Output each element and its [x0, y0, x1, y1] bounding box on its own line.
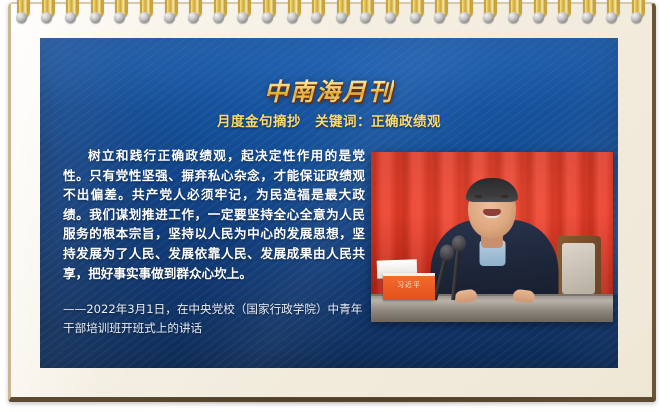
spiral-ring [557, 0, 569, 20]
spiral-ring [287, 0, 299, 20]
spiral-ring-knob [459, 12, 470, 23]
spiral-ring-knob [164, 12, 175, 23]
spiral-ring [311, 0, 323, 20]
subtitle: 月度金句摘抄 关键词：正确政绩观 [40, 110, 618, 130]
spiral-ring [606, 0, 618, 20]
spiral-ring-knob [508, 12, 519, 23]
nameplate-label: 习近平 [383, 280, 435, 290]
spiral-ring-knob [237, 12, 248, 23]
spiral-ring [631, 0, 643, 20]
spiral-ring [90, 0, 102, 20]
spiral-binding [10, 0, 658, 36]
spiral-ring-knob [41, 12, 52, 23]
spiral-ring-knob [410, 12, 421, 23]
spiral-ring-knob [213, 12, 224, 23]
spiral-ring-knob [385, 12, 396, 23]
masthead-title: 中南海月刊 [264, 72, 394, 107]
slide-panel: 中南海月刊 月度金句摘抄 关键词：正确政绩观 树立和践行正确政绩观，起决定性作用… [40, 38, 618, 368]
spiral-ring [410, 0, 422, 20]
spiral-ring-knob [557, 12, 568, 23]
spiral-ring [114, 0, 126, 20]
spiral-ring-knob [65, 12, 76, 23]
spiral-ring [360, 0, 372, 20]
spiral-ring [213, 0, 225, 20]
spiral-ring [139, 0, 151, 20]
spiral-ring-knob [16, 12, 27, 23]
spiral-ring-knob [188, 12, 199, 23]
spiral-ring [188, 0, 200, 20]
spiral-ring [385, 0, 397, 20]
spiral-ring [434, 0, 446, 20]
chair-back [557, 236, 601, 298]
spiral-ring [336, 0, 348, 20]
person-eye-right [501, 195, 508, 198]
spiral-ring-knob [483, 12, 494, 23]
spiral-ring [41, 0, 53, 20]
quote-text: 树立和践行正确政绩观，起决定性作用的是党性。只有党性坚强、摒弃私心杂念，才能保证… [63, 146, 365, 283]
spiral-ring [582, 0, 594, 20]
spiral-ring-knob [434, 12, 445, 23]
spiral-ring [65, 0, 77, 20]
spiral-ring-knob [287, 12, 298, 23]
board-drop-shadow [14, 398, 654, 407]
quote-source: ——2022年3月1日，在中央党校（国家行政学院）中青年干部培训班开班式上的讲话 [63, 300, 365, 338]
spiral-ring [16, 0, 28, 20]
spiral-ring-knob [311, 12, 322, 23]
spiral-ring-knob [114, 12, 125, 23]
spiral-ring [533, 0, 545, 20]
spiral-ring [459, 0, 471, 20]
spiral-ring-knob [262, 12, 273, 23]
calendar-page-root: 中南海月刊 月度金句摘抄 关键词：正确政绩观 树立和践行正确政绩观，起决定性作用… [0, 0, 670, 412]
spiral-ring [164, 0, 176, 20]
nameplate: 习近平 [383, 273, 435, 300]
person-mouth [483, 209, 501, 218]
spiral-ring [237, 0, 249, 20]
spiral-ring [483, 0, 495, 20]
spiral-ring-knob [533, 12, 544, 23]
spiral-ring-knob [139, 12, 150, 23]
spiral-ring-knob [336, 12, 347, 23]
spiral-ring-knob [606, 12, 617, 23]
person-eye-left [475, 195, 482, 198]
spiral-ring-knob [631, 12, 642, 23]
masthead: 中南海月刊 [40, 72, 618, 107]
spiral-ring-knob [360, 12, 371, 23]
spiral-ring [262, 0, 274, 20]
person-hand-right [512, 289, 535, 304]
spiral-ring-knob [582, 12, 593, 23]
spiral-ring [508, 0, 520, 20]
speech-photo: 习近平 [371, 152, 613, 322]
quote-block: 树立和践行正确政绩观，起决定性作用的是党性。只有党性坚强、摒弃私心杂念，才能保证… [63, 146, 365, 338]
spiral-ring-knob [90, 12, 101, 23]
